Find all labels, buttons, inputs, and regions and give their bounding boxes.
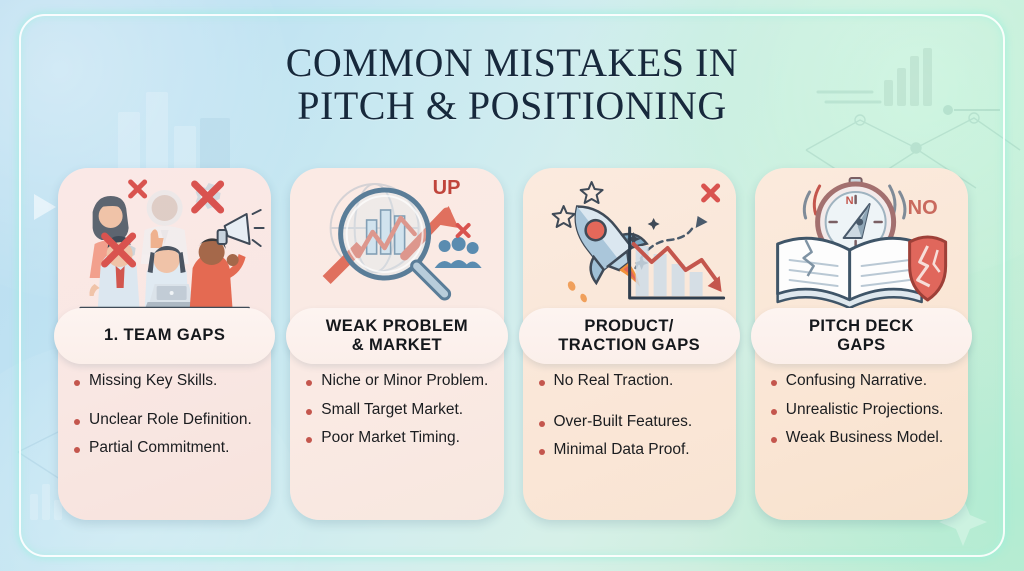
list-item: Over-Built Features. (539, 413, 726, 432)
bullet-dot-icon (771, 409, 777, 415)
card-weak-problem-market[interactable]: UP WEAK PROBLEM & MARKET Niche or Minor … (290, 168, 503, 520)
card-title: WEAK PROBLEM & MARKET (326, 317, 468, 355)
card-title: 1. TEAM GAPS (104, 326, 225, 345)
list-item: Unrealistic Projections. (771, 401, 958, 420)
card-bullet-list: Niche or Minor Problem. Small Target Mar… (306, 372, 493, 458)
bullet-text: Poor Market Timing. (321, 429, 460, 448)
team-with-x-marks-and-megaphone-icon (58, 172, 271, 310)
card-product-traction-gaps[interactable]: PRODUCT/ TRACTION GAPS No Real Traction.… (523, 168, 736, 520)
list-item: Weak Business Model. (771, 429, 958, 448)
card-bullet-list: Missing Key Skills. Unclear Role Definit… (74, 372, 261, 468)
list-item: No Real Traction. (539, 372, 726, 391)
card-bullet-list: Confusing Narrative. Unrealistic Project… (771, 372, 958, 458)
bullet-text: Missing Key Skills. (89, 372, 217, 391)
bullet-dot-icon (771, 380, 777, 386)
bullet-text: Unrealistic Projections. (786, 401, 944, 420)
card-title-pill: PRODUCT/ TRACTION GAPS (519, 308, 740, 364)
magnifier-over-declining-chart-icon: UP (290, 172, 503, 310)
bullet-text: Weak Business Model. (786, 429, 943, 448)
compass-book-cracked-shield-icon: N (755, 172, 968, 310)
card-pitch-deck-gaps[interactable]: N (755, 168, 968, 520)
card-bullet-list: No Real Traction. Over-Built Features. M… (539, 372, 726, 470)
svg-text:NO: NO (907, 197, 937, 219)
list-item: Small Target Market. (306, 401, 493, 420)
bullet-dot-icon (306, 409, 312, 415)
card-grid: 1. TEAM GAPS Missing Key Skills. Unclear… (58, 168, 968, 520)
list-item: Unclear Role Definition. (74, 411, 261, 430)
rocket-with-downward-graph-icon (523, 172, 736, 310)
bullet-dot-icon (539, 421, 545, 427)
bullet-text: Niche or Minor Problem. (321, 372, 488, 391)
bullet-dot-icon (74, 447, 80, 453)
card-title-pill: PITCH DECK GAPS (751, 308, 972, 364)
list-item: Minimal Data Proof. (539, 441, 726, 460)
card-title-pill: 1. TEAM GAPS (54, 308, 275, 364)
bullet-dot-icon (539, 449, 545, 455)
bullet-dot-icon (771, 437, 777, 443)
card-title: PRODUCT/ TRACTION GAPS (558, 317, 700, 355)
bullet-dot-icon (306, 380, 312, 386)
bullet-dot-icon (539, 380, 545, 386)
list-item: Poor Market Timing. (306, 429, 493, 448)
list-item: Missing Key Skills. (74, 372, 261, 391)
bullet-dot-icon (74, 380, 80, 386)
bullet-text: Unclear Role Definition. (89, 411, 252, 430)
infographic-canvas: COMMON MISTAKES IN PITCH & POSITIONING (0, 0, 1024, 571)
page-title-line-1: COMMON MISTAKES IN (0, 42, 1024, 85)
list-item: Partial Commitment. (74, 439, 261, 458)
list-item: Confusing Narrative. (771, 372, 958, 391)
bullet-dot-icon (74, 419, 80, 425)
bullet-dot-icon (306, 437, 312, 443)
svg-text:N: N (845, 195, 853, 207)
bullet-text: Over-Built Features. (554, 413, 693, 432)
page-title-line-2: PITCH & POSITIONING (0, 85, 1024, 128)
bullet-text: Minimal Data Proof. (554, 441, 690, 460)
bullet-text: Small Target Market. (321, 401, 463, 420)
list-item: Niche or Minor Problem. (306, 372, 493, 391)
svg-text:UP: UP (433, 177, 461, 199)
page-title: COMMON MISTAKES IN PITCH & POSITIONING (0, 42, 1024, 128)
bullet-text: No Real Traction. (554, 372, 674, 391)
bullet-text: Confusing Narrative. (786, 372, 927, 391)
card-title-pill: WEAK PROBLEM & MARKET (286, 308, 507, 364)
card-title: PITCH DECK GAPS (809, 317, 914, 355)
card-team-gaps[interactable]: 1. TEAM GAPS Missing Key Skills. Unclear… (58, 168, 271, 520)
bullet-text: Partial Commitment. (89, 439, 229, 458)
